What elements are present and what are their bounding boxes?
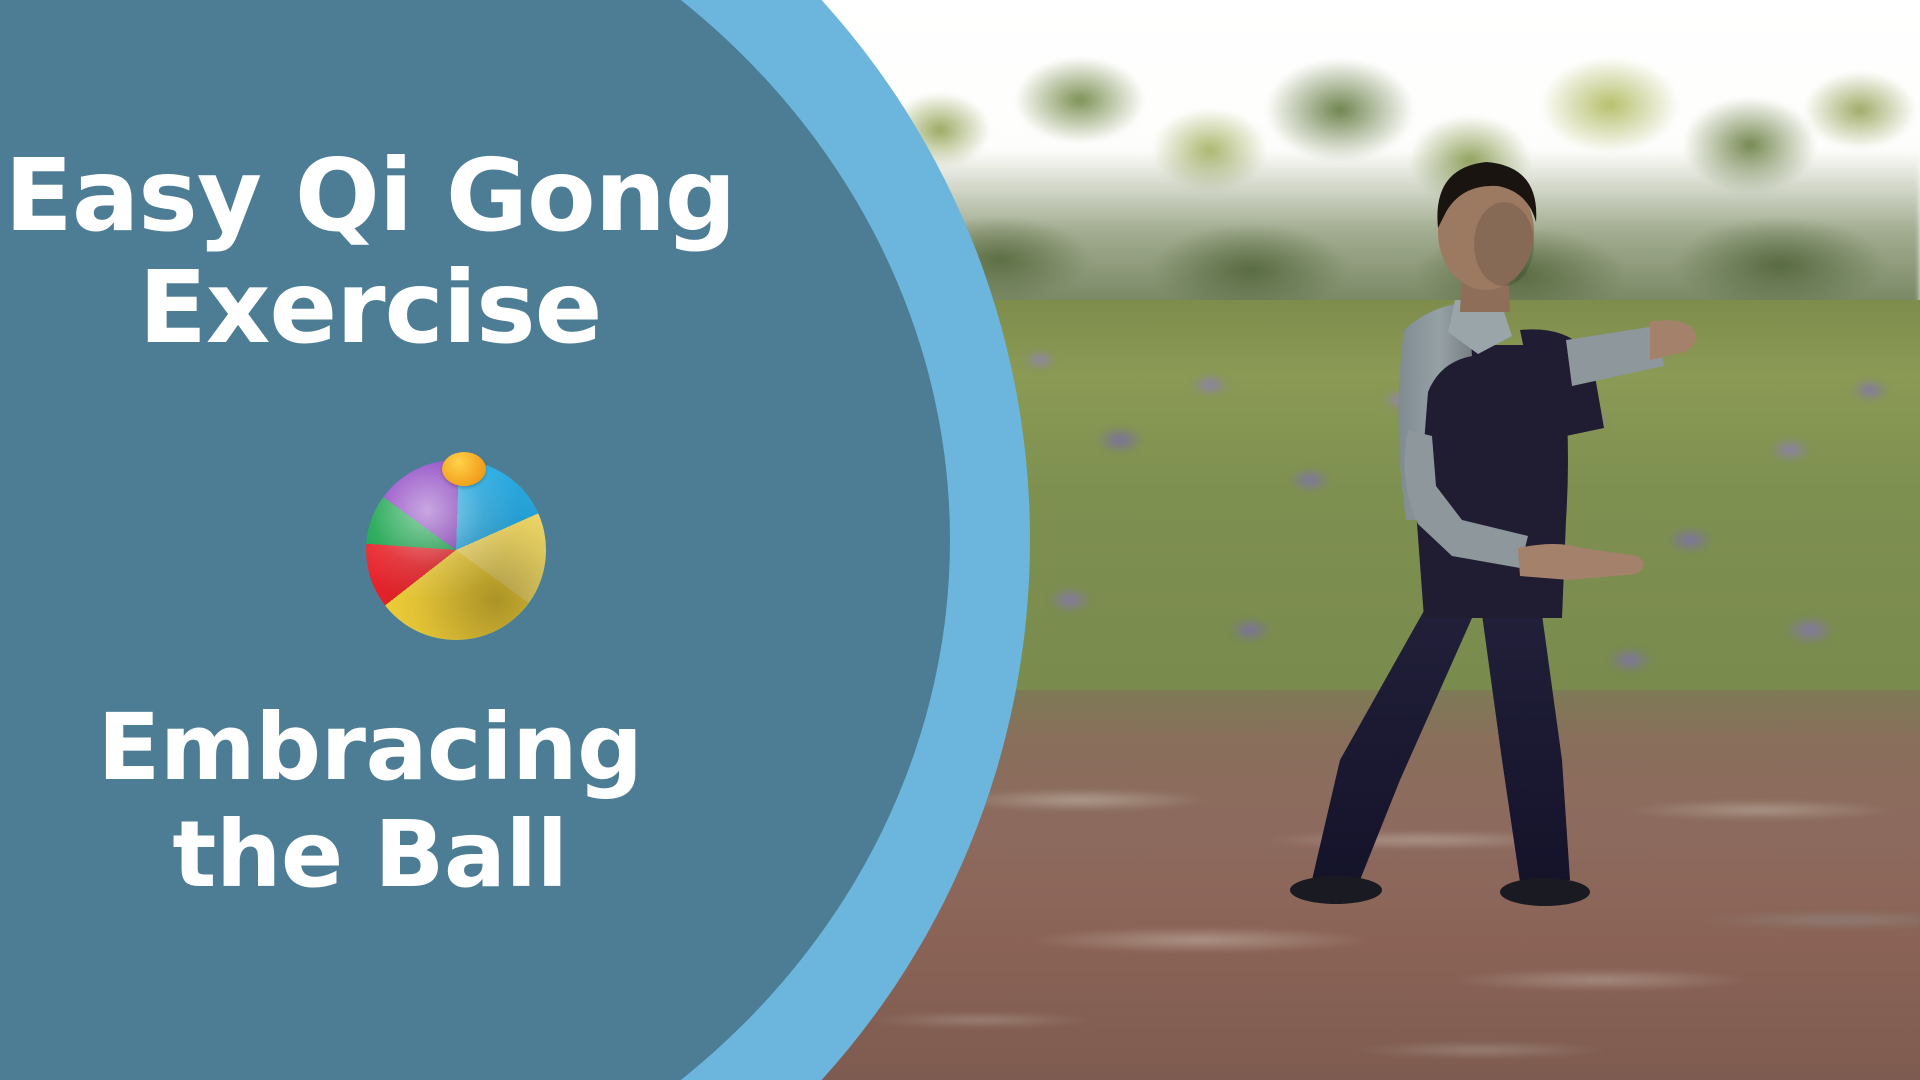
subtitle-line-1: Embracing [0, 695, 740, 802]
title-block: Easy Qi Gong Exercise [0, 140, 740, 364]
beach-ball-nozzle-icon [442, 452, 486, 486]
beach-ball-sphere [366, 460, 546, 640]
subtitle-block: Embracing the Ball [0, 695, 740, 908]
thumbnail-canvas: Easy Qi Gong Exercise Embracing the Ball [0, 0, 1920, 1080]
beach-ball-shading [366, 460, 546, 640]
title-line-1: Easy Qi Gong [0, 140, 740, 252]
beach-ball-icon [366, 452, 554, 640]
subtitle-line-2: the Ball [0, 802, 740, 909]
title-line-2: Exercise [0, 252, 740, 364]
